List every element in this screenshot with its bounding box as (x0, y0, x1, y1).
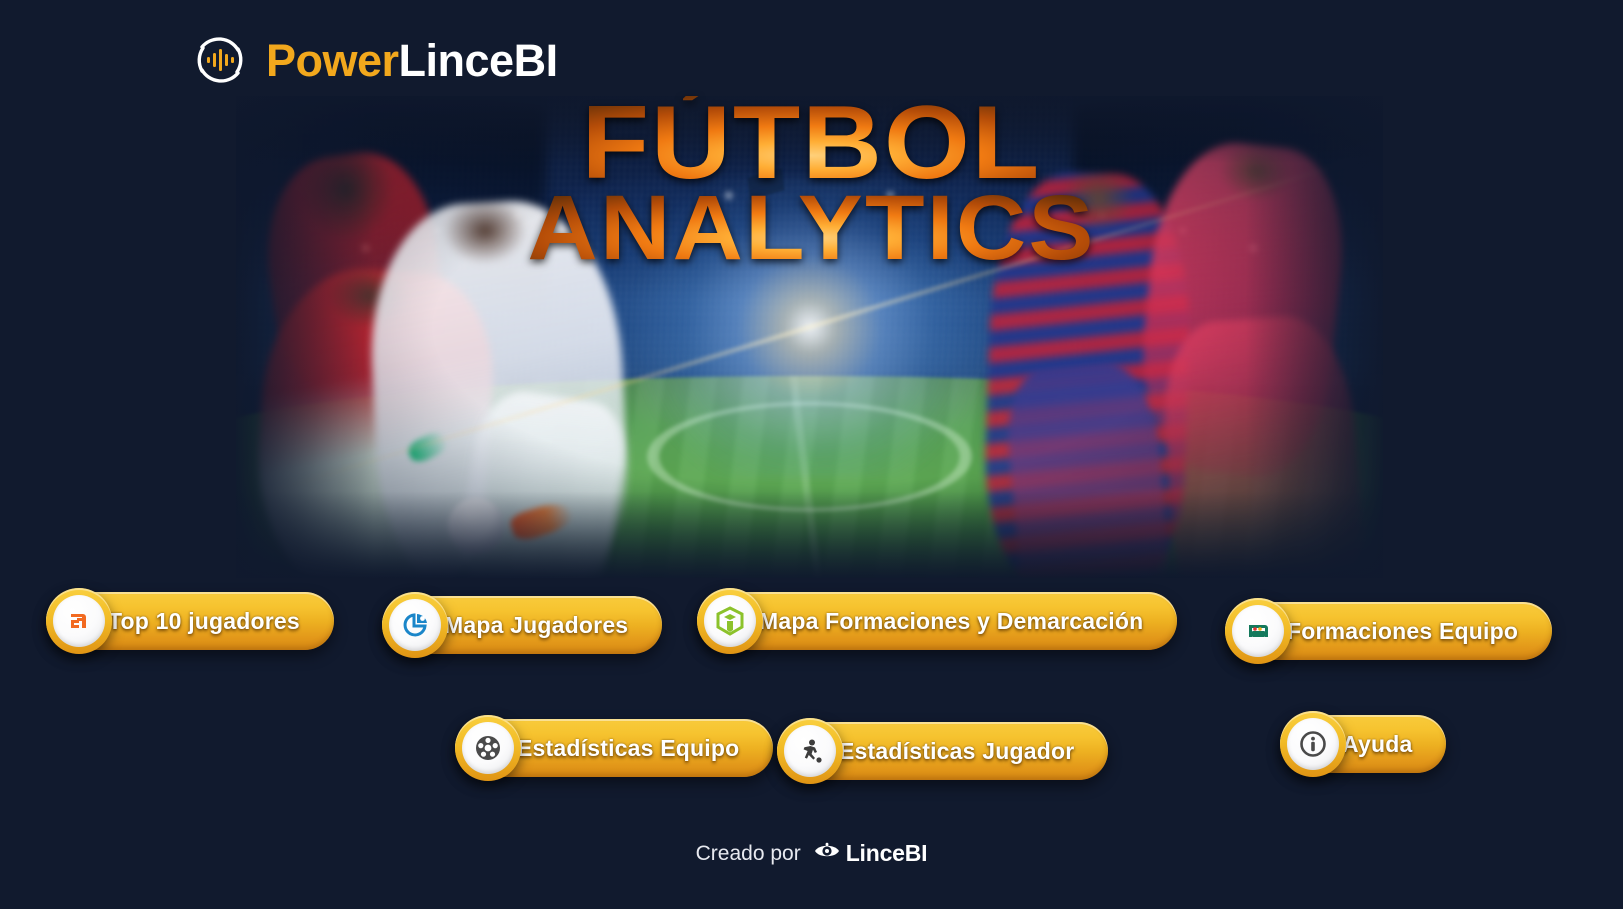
nav-button-badge[interactable] (1280, 711, 1346, 777)
info-circle-icon (1287, 718, 1339, 770)
pie-chart-icon (389, 599, 441, 651)
futbol-analytics-portal: PowerLinceBI FÚTBOL ANALYTICS (0, 0, 1623, 909)
nav-button-label: Mapa Jugadores (444, 612, 628, 639)
soccer-ball-icon (462, 722, 514, 774)
nav-button-label: Ayuda (1342, 731, 1412, 758)
footer-made-by: Creado por (696, 842, 801, 866)
nav-button-ayuda[interactable]: Ayuda (1280, 715, 1446, 773)
footer: Creado por LinceBI (0, 840, 1623, 867)
lince-eye-icon (814, 841, 840, 866)
nav-button-badge[interactable] (46, 588, 112, 654)
nav-button-estadisticas-equipo[interactable]: Estadísticas Equipo (455, 719, 773, 777)
nav-button-badge[interactable] (1225, 598, 1291, 664)
soundwave-circle-icon (190, 30, 250, 90)
top-players-icon (53, 595, 105, 647)
nav-button-label: Top 10 jugadores (108, 608, 300, 635)
cube-icon (704, 595, 756, 647)
nav-button-formaciones-equipo[interactable]: Formaciones Equipo (1225, 602, 1552, 660)
nav-button-badge[interactable] (382, 592, 448, 658)
nav-button-badge[interactable] (455, 715, 521, 781)
player-kicking-icon (784, 725, 836, 777)
nav-button-mapa-formaciones-demarcacion[interactable]: Mapa Formaciones y Demarcación (697, 592, 1177, 650)
nav-button-label: Mapa Formaciones y Demarcación (759, 608, 1143, 635)
nav-button-estadisticas-jugador[interactable]: Estadísticas Jugador (777, 722, 1108, 780)
footer-company-name: LinceBI (846, 840, 928, 867)
formation-board-icon (1232, 605, 1284, 657)
nav-button-label: Estadísticas Equipo (517, 735, 739, 762)
nav-button-label: Formaciones Equipo (1287, 618, 1518, 645)
brand-name: PowerLinceBI (266, 38, 558, 83)
brand-logo: PowerLinceBI (190, 30, 558, 90)
nav-button-pill[interactable]: Mapa Formaciones y Demarcación (697, 592, 1177, 650)
brand-name-power: Power (266, 35, 399, 86)
nav-button-badge[interactable] (777, 718, 843, 784)
nav-button-mapa-jugadores[interactable]: Mapa Jugadores (382, 596, 662, 654)
nav-button-label: Estadísticas Jugador (839, 738, 1074, 765)
nav-button-badge[interactable] (697, 588, 763, 654)
main-menu: Top 10 jugadores Mapa Jugadores (0, 0, 1623, 909)
nav-button-top10-jugadores[interactable]: Top 10 jugadores (46, 592, 334, 650)
brand-name-lincebi: LinceBI (399, 35, 558, 86)
footer-lincebi-logo[interactable]: LinceBI (814, 840, 928, 867)
